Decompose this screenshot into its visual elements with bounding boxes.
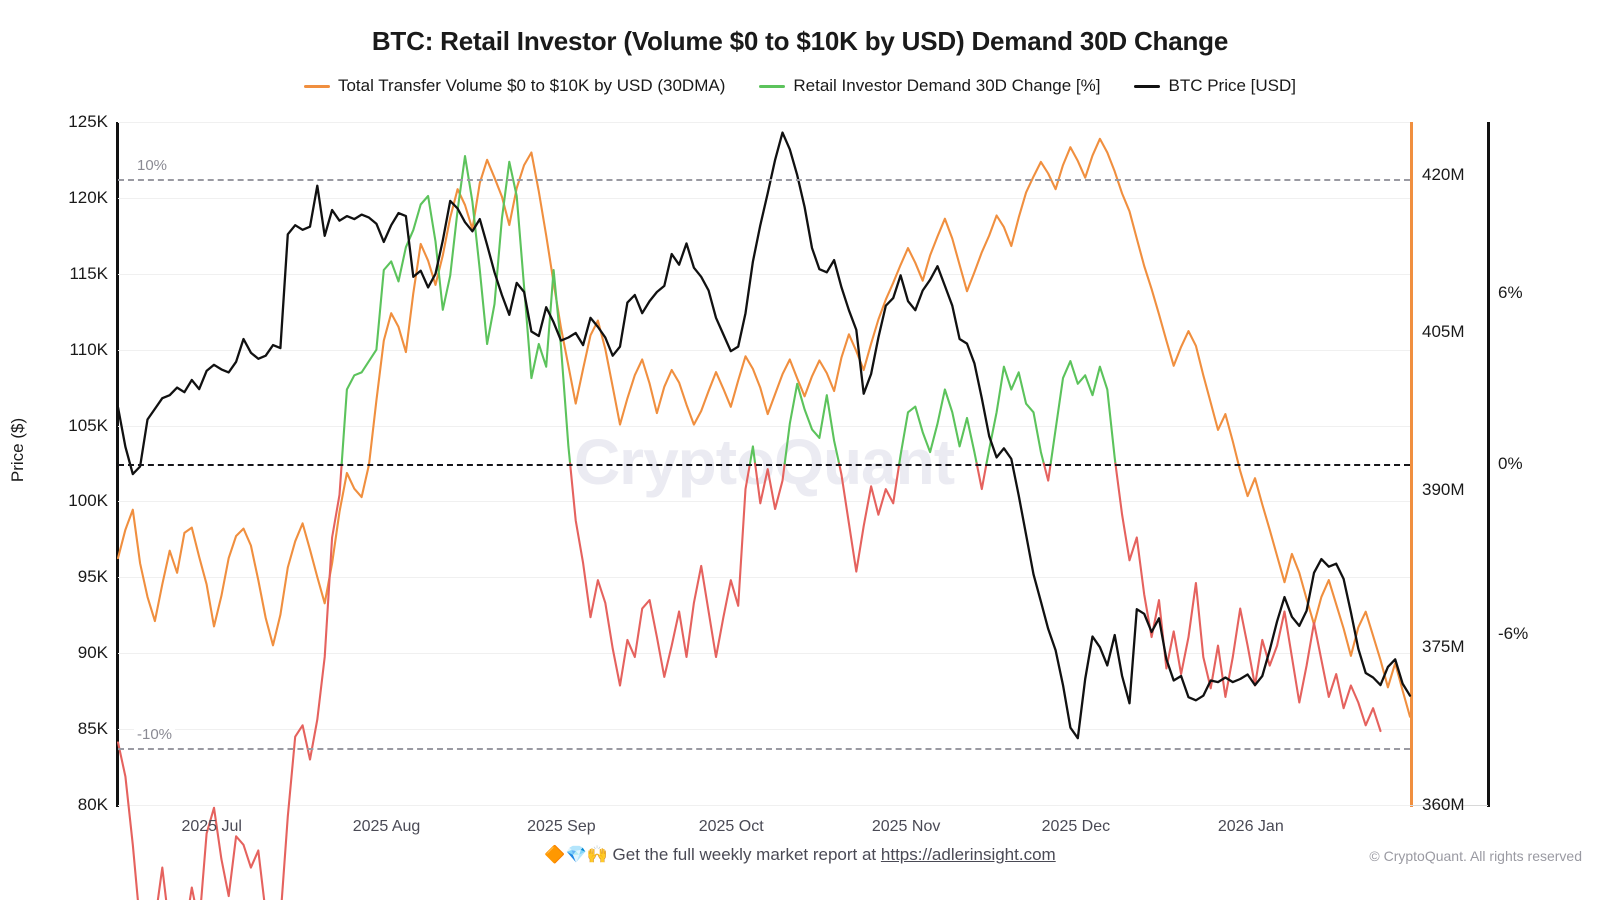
- legend-label-demand: Retail Investor Demand 30D Change [%]: [793, 76, 1100, 96]
- adlerinsight-link[interactable]: https://adlerinsight.com: [881, 845, 1056, 864]
- x-tick-label: 2025 Sep: [527, 818, 596, 836]
- y-tick-left: 95K: [78, 567, 108, 587]
- chart-legend: Total Transfer Volume $0 to $10K by USD …: [0, 76, 1600, 96]
- legend-swatch-price: [1134, 85, 1160, 88]
- y-tick-left: 125K: [68, 112, 108, 132]
- y-tick-left: 115K: [70, 264, 108, 284]
- x-tick-label: 2025 Aug: [353, 818, 421, 836]
- legend-item-price[interactable]: BTC Price [USD]: [1134, 76, 1296, 96]
- right-percent-axis-line: [1487, 122, 1490, 807]
- copyright: © CryptoQuant. All rights reserved: [1369, 848, 1582, 864]
- legend-item-demand[interactable]: Retail Investor Demand 30D Change [%]: [759, 76, 1100, 96]
- footer-emoji: 🔶💎🙌: [544, 845, 608, 864]
- legend-label-volume: Total Transfer Volume $0 to $10K by USD …: [338, 76, 725, 96]
- y-tick-left: 80K: [78, 795, 108, 815]
- x-tick-label: 2025 Jul: [181, 818, 242, 836]
- reference-line-0pct: [118, 464, 1410, 466]
- y-tick-left: 105K: [68, 416, 108, 436]
- reference-line-10pct: [118, 179, 1410, 181]
- y-tick-left: 85K: [78, 719, 108, 739]
- y-tick-volume: 390M: [1422, 480, 1465, 500]
- y-tick-percent: 0%: [1498, 454, 1523, 474]
- page-title: BTC: Retail Investor (Volume $0 to $10K …: [0, 26, 1600, 57]
- reference-line-label: -10%: [134, 726, 175, 743]
- footer-text: Get the full weekly market report at: [613, 845, 881, 864]
- x-tick-label: 2025 Dec: [1042, 818, 1111, 836]
- x-tick-label: 2025 Oct: [699, 818, 764, 836]
- y-tick-left: 90K: [78, 643, 108, 663]
- y-tick-left: 120K: [68, 188, 108, 208]
- footer-promo: 🔶💎🙌 Get the full weekly market report at…: [0, 845, 1600, 865]
- legend-label-price: BTC Price [USD]: [1168, 76, 1296, 96]
- y-tick-left: 100K: [68, 491, 108, 511]
- y-tick-volume: 420M: [1422, 165, 1465, 185]
- y-tick-percent: 6%: [1498, 283, 1523, 303]
- y-tick-left: 110K: [70, 340, 108, 360]
- legend-swatch-demand: [759, 85, 785, 88]
- reference-line-label: 10%: [134, 157, 170, 174]
- y-axis-label: Price ($): [8, 418, 28, 482]
- x-tick-label: 2026 Jan: [1218, 818, 1284, 836]
- gridline: [118, 805, 1410, 806]
- y-tick-volume: 360M: [1422, 795, 1465, 815]
- y-tick-volume: 375M: [1422, 637, 1465, 657]
- right-volume-axis-line: [1410, 122, 1413, 807]
- y-tick-percent: -6%: [1498, 624, 1528, 644]
- x-tick-label: 2025 Nov: [872, 818, 941, 836]
- reference-line-neg10pct: [118, 748, 1410, 750]
- legend-item-volume[interactable]: Total Transfer Volume $0 to $10K by USD …: [304, 76, 725, 96]
- y-tick-volume: 405M: [1422, 322, 1465, 342]
- plot-area: CryptoQuant 10%-10%: [118, 122, 1410, 805]
- legend-swatch-volume: [304, 85, 330, 88]
